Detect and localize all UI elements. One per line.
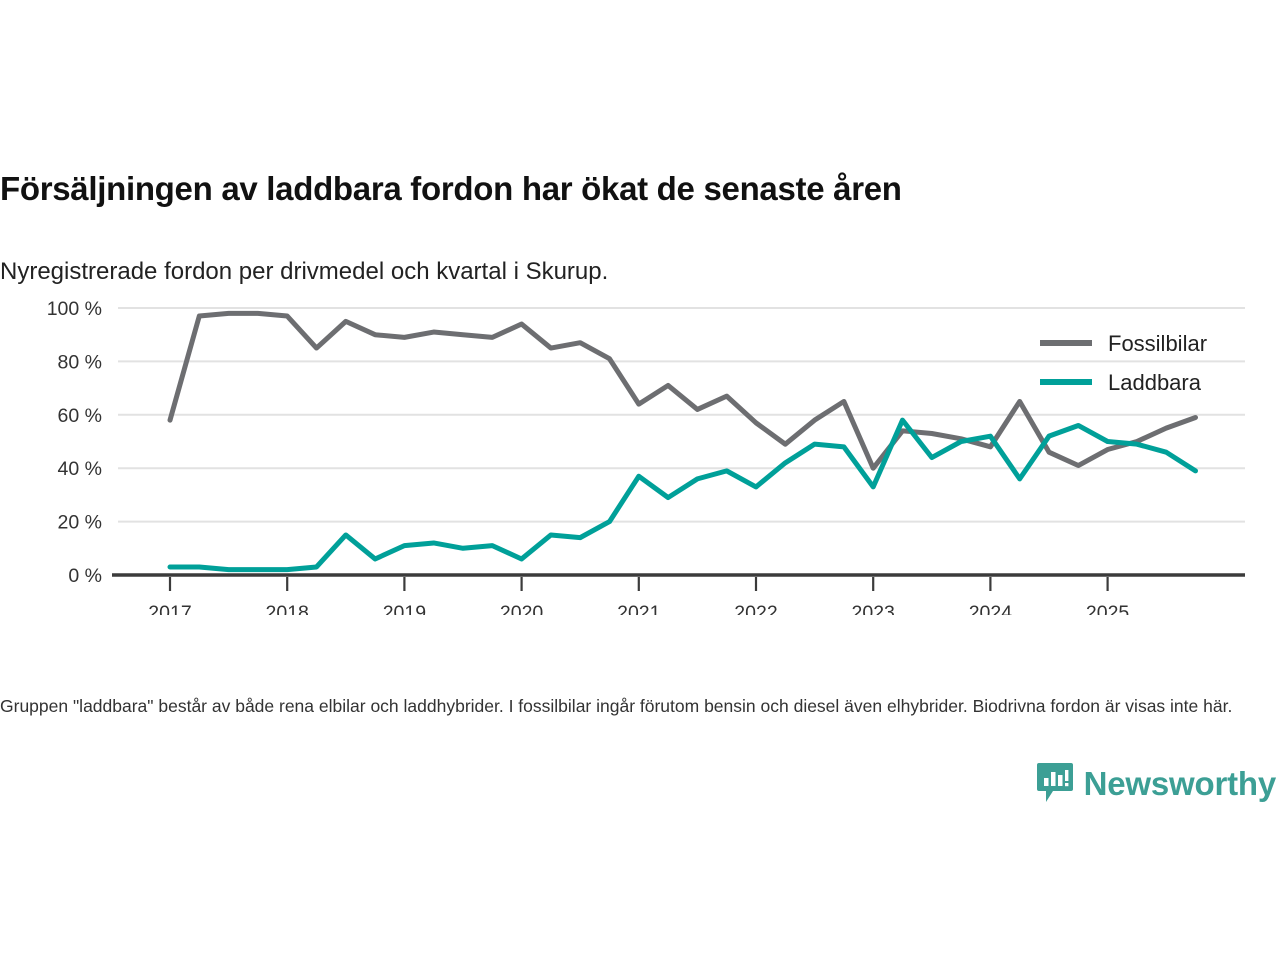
x-axis-tick-label: 2019 <box>383 602 426 615</box>
newsworthy-logo[interactable]: Newsworthy <box>1036 762 1276 804</box>
brand-name: Newsworthy <box>1084 767 1276 800</box>
page-footer: Newsworthy <box>0 762 1280 826</box>
series-line-laddbara <box>170 420 1196 570</box>
y-axis-tick-label: 20 % <box>58 512 102 534</box>
line-chart: 0 %20 %40 %60 %80 %100 % 201720182019202… <box>0 285 1280 615</box>
chart-legend: FossilbilarLaddbara <box>1040 331 1207 395</box>
y-axis-tick-label: 60 % <box>58 405 102 427</box>
x-axis-tick-label: 2018 <box>266 602 309 615</box>
y-axis-labels: 0 %20 %40 %60 %80 %100 % <box>47 298 102 587</box>
legend-label: Laddbara <box>1108 370 1202 395</box>
chart-container: 0 %20 %40 %60 %80 %100 % 201720182019202… <box>0 285 1280 615</box>
page-title: Försäljningen av laddbara fordon har öka… <box>0 170 902 208</box>
x-axis-ticks <box>170 577 1108 591</box>
y-axis-tick-label: 100 % <box>47 298 102 320</box>
chart-footnote: Gruppen "laddbara" består av både rena e… <box>0 694 1245 719</box>
x-axis-tick-label: 2023 <box>852 602 895 615</box>
y-axis-tick-label: 80 % <box>58 351 102 373</box>
legend-label: Fossilbilar <box>1108 331 1207 356</box>
x-axis-tick-label: 2020 <box>500 602 544 615</box>
x-axis-tick-label: 2024 <box>969 602 1013 615</box>
page-subtitle: Nyregistrerade fordon per drivmedel och … <box>0 258 608 287</box>
x-axis-labels: 201720182019202020212022202320242025 <box>148 602 1129 615</box>
y-axis-tick-label: 40 % <box>58 458 102 480</box>
bar-chart-speech-bubble-icon <box>1036 762 1074 804</box>
x-axis-tick-label: 2022 <box>734 602 777 615</box>
x-axis-tick-label: 2017 <box>148 602 191 615</box>
chart-page: Försäljningen av laddbara fordon har öka… <box>0 0 1280 960</box>
x-axis-tick-label: 2021 <box>617 602 660 615</box>
x-axis-tick-label: 2025 <box>1086 602 1130 615</box>
series-lines <box>170 313 1196 569</box>
y-axis-tick-label: 0 % <box>68 565 102 587</box>
